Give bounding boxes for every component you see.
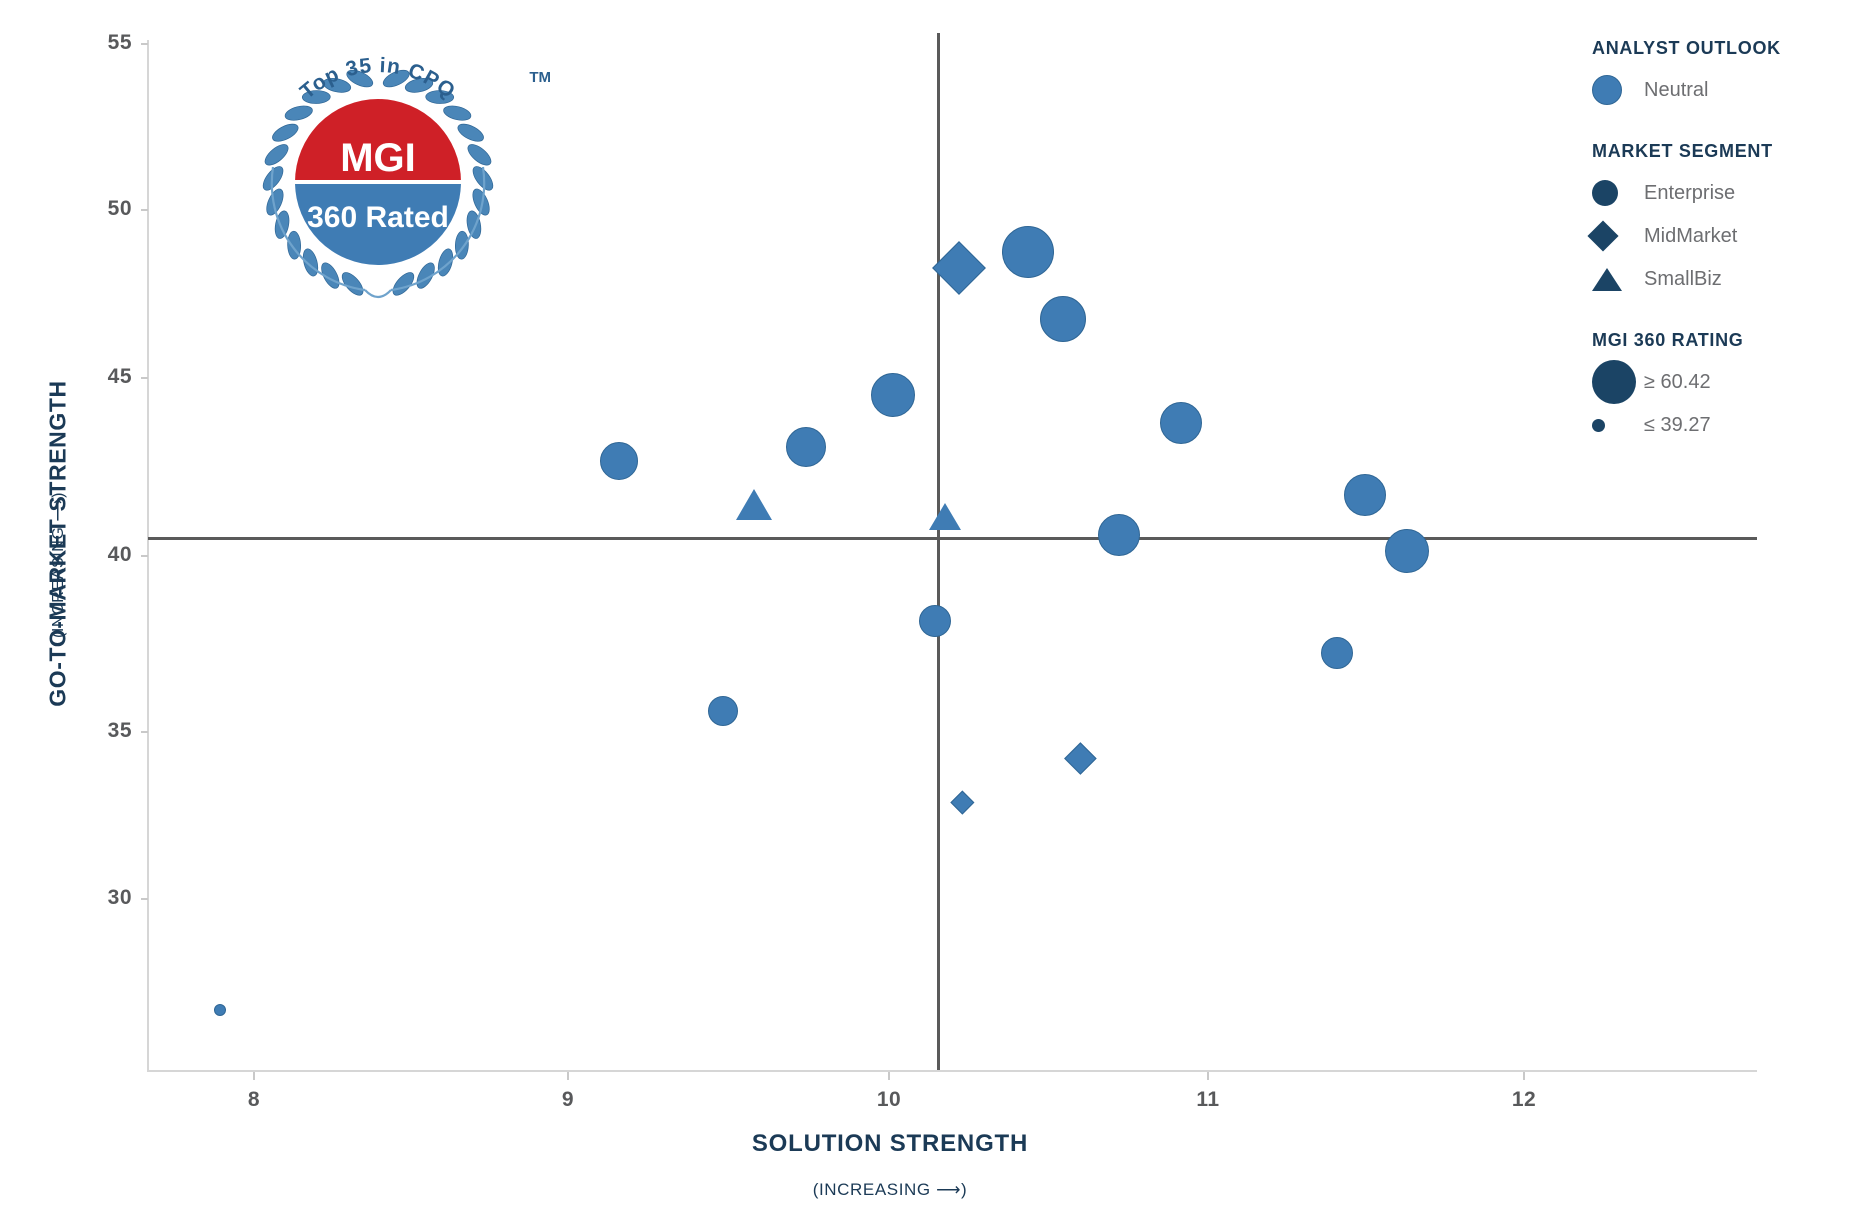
- data-point-midmarket-8[interactable]: [932, 241, 986, 295]
- legend-group-mgi-rating: MGI 360 RATING ≥ 60.42≤ 39.27: [1592, 330, 1842, 442]
- y-tick-45: [141, 377, 148, 379]
- data-point-enterprise-17[interactable]: [1385, 529, 1429, 573]
- svg-text:MGI: MGI: [340, 136, 416, 180]
- legend-heading-market-segment: MARKET SEGMENT: [1592, 141, 1842, 162]
- y-tick-50: [141, 209, 148, 211]
- y-tick-55: [141, 43, 148, 45]
- legend-item-enterprise[interactable]: Enterprise: [1592, 176, 1842, 210]
- diamond-icon: [1587, 220, 1618, 251]
- y-tick-40: [141, 555, 148, 557]
- legend-swatch-circle-icon: [1592, 75, 1644, 105]
- x-tick-10: [888, 1072, 890, 1080]
- legend-swatch-circle-icon: [1592, 360, 1644, 404]
- data-point-enterprise-15[interactable]: [1321, 637, 1353, 669]
- data-point-enterprise-1[interactable]: [600, 442, 638, 480]
- legend-item-label: MidMarket: [1644, 225, 1737, 248]
- legend-item-label: Neutral: [1644, 79, 1708, 102]
- data-point-enterprise-10[interactable]: [1002, 226, 1054, 278]
- x-axis-title-sub: (INCREASING ⟶): [590, 1180, 1190, 1200]
- x-tick-9: [567, 1072, 569, 1080]
- legend-group-market-segment: MARKET SEGMENT EnterpriseMidMarketSmallB…: [1592, 141, 1842, 296]
- data-point-enterprise-5[interactable]: [871, 373, 915, 417]
- data-point-midmarket-9[interactable]: [951, 791, 975, 815]
- legend-item-label: ≤ 39.27: [1644, 414, 1711, 437]
- legend-group-analyst-outlook: ANALYST OUTLOOK Neutral: [1592, 38, 1842, 107]
- legend-heading-analyst-outlook: ANALYST OUTLOOK: [1592, 38, 1842, 59]
- data-point-enterprise-0[interactable]: [214, 1004, 226, 1016]
- quadrant-horizontal-line: [148, 537, 1757, 540]
- x-axis-line: [147, 1070, 1757, 1072]
- legend-heading-mgi-rating: MGI 360 RATING: [1592, 330, 1842, 351]
- triangle-icon: [1592, 268, 1622, 291]
- legend-item-neutral[interactable]: Neutral: [1592, 73, 1842, 107]
- legend-item-label: SmallBiz: [1644, 268, 1722, 291]
- legend-swatch-diamond-icon: [1592, 225, 1644, 247]
- legend-item-label: ≥ 60.42: [1644, 371, 1711, 394]
- data-point-enterprise-4[interactable]: [786, 427, 826, 467]
- y-axis-title: GO-TO-MARKET STRENGTH (INCREASING ⟶): [18, 300, 98, 800]
- y-axis-title-sub: (INCREASING ⟶): [48, 385, 68, 745]
- mgi-360-rated-badge: Top 35 in CPQ MGI 360 Rated TM: [243, 47, 513, 317]
- legend-item-39-27[interactable]: ≤ 39.27: [1592, 408, 1842, 442]
- chart-legend: ANALYST OUTLOOK Neutral MARKET SEGMENT E…: [1592, 38, 1842, 476]
- y-tick-35: [141, 731, 148, 733]
- data-point-enterprise-16[interactable]: [1344, 474, 1386, 516]
- y-tick-30: [141, 898, 148, 900]
- data-point-enterprise-11[interactable]: [1040, 296, 1086, 342]
- x-tick-label-12: 12: [1494, 1088, 1554, 1112]
- data-point-enterprise-14[interactable]: [1160, 402, 1202, 444]
- legend-item-smallbiz[interactable]: SmallBiz: [1592, 262, 1842, 296]
- legend-swatch-circle-icon: [1592, 180, 1644, 206]
- x-tick-label-11: 11: [1178, 1088, 1238, 1112]
- quadrant-vertical-line: [937, 33, 940, 1070]
- circle-icon: [1592, 419, 1605, 432]
- data-point-smallbiz-3[interactable]: [736, 489, 772, 520]
- circle-icon: [1592, 75, 1622, 105]
- legend-swatch-triangle-icon: [1592, 268, 1644, 291]
- legend-item-60-42[interactable]: ≥ 60.42: [1592, 365, 1842, 399]
- y-tick-label-55: 55: [72, 31, 132, 55]
- scatter-chart: 55 50 45 40 35 30 8 9 10 11 12 GO-TO-MAR…: [0, 0, 1850, 1223]
- legend-item-label: Enterprise: [1644, 182, 1735, 205]
- data-point-enterprise-6[interactable]: [919, 605, 951, 637]
- data-point-midmarket-12[interactable]: [1064, 742, 1096, 774]
- x-axis-title-main: SOLUTION STRENGTH: [590, 1130, 1190, 1158]
- x-tick-12: [1523, 1072, 1525, 1080]
- x-tick-11: [1207, 1072, 1209, 1080]
- circle-icon: [1592, 360, 1636, 404]
- data-point-smallbiz-7[interactable]: [929, 503, 961, 530]
- x-tick-label-9: 9: [538, 1088, 598, 1112]
- trademark-symbol: TM: [529, 69, 551, 86]
- x-tick-label-8: 8: [224, 1088, 284, 1112]
- x-tick-8: [253, 1072, 255, 1080]
- legend-item-midmarket[interactable]: MidMarket: [1592, 219, 1842, 253]
- data-point-enterprise-2[interactable]: [708, 696, 738, 726]
- data-point-enterprise-13[interactable]: [1098, 514, 1140, 556]
- x-tick-label-10: 10: [859, 1088, 919, 1112]
- svg-text:360 Rated: 360 Rated: [307, 201, 449, 234]
- y-tick-label-50: 50: [72, 197, 132, 221]
- y-tick-label-30: 30: [72, 886, 132, 910]
- circle-icon: [1592, 180, 1618, 206]
- legend-swatch-circle-icon: [1592, 419, 1644, 432]
